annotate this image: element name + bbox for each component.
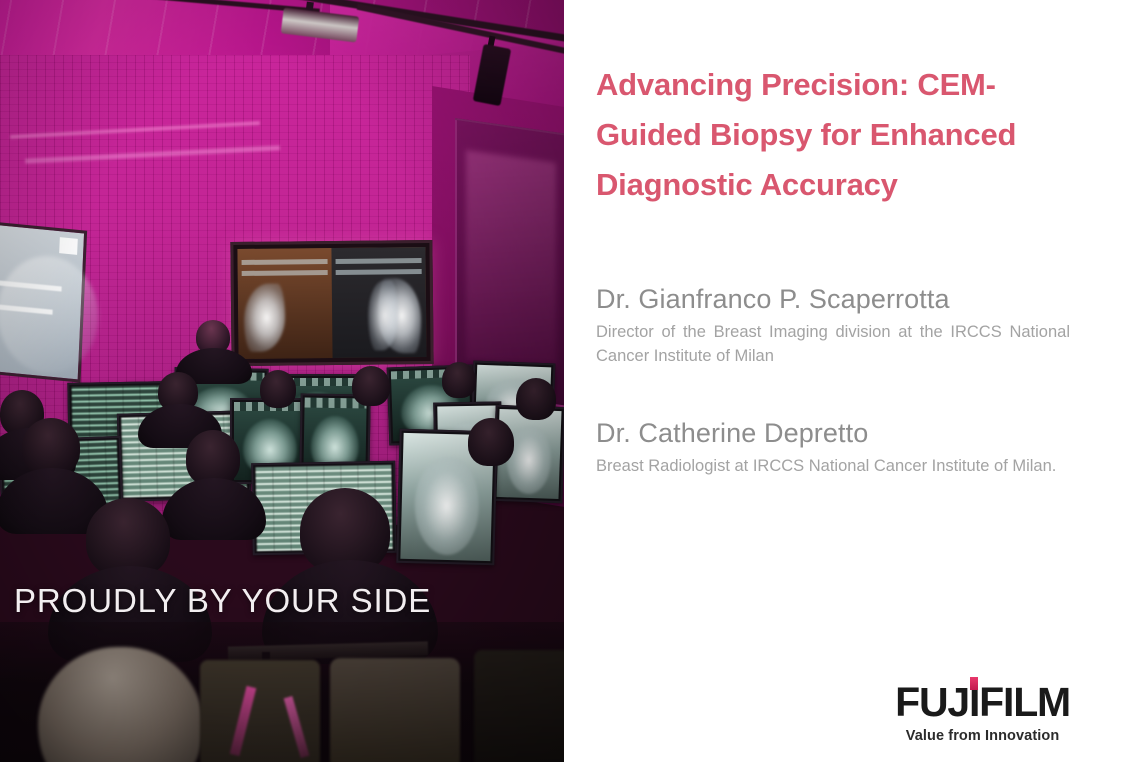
presenter-role: Breast Radiologist at IRCCS National Can… (596, 454, 1070, 478)
mammogram-image (413, 456, 480, 556)
logo-part-film: FILM (979, 679, 1070, 725)
mammogram-panel-right (331, 247, 426, 358)
presenter-block: Dr. Catherine Depretto Breast Radiologis… (596, 418, 1070, 478)
main-presentation-screen (230, 240, 433, 366)
presenter-role: Director of the Breast Imaging division … (596, 320, 1070, 368)
presenter-block: Dr. Gianfranco P. Scaperrotta Director o… (596, 284, 1070, 368)
logo-part-fuj: FUJ (895, 679, 969, 725)
page-title: Advancing Precision: CEM-Guided Biopsy f… (596, 60, 1066, 210)
fujifilm-wordmark: FUJIFILM (895, 682, 1070, 723)
logo-letter-i: I (969, 679, 979, 725)
attendee-silhouette (516, 378, 556, 420)
mammogram-image (243, 284, 285, 353)
chair (474, 650, 564, 762)
attendee-silhouette (442, 362, 476, 398)
screen-toolbar (241, 259, 328, 265)
presentation-slide: PROUDLY BY YOUR SIDE Advancing Precision… (0, 0, 1136, 762)
attendee-silhouette (468, 418, 514, 466)
auxiliary-presentation-screen (0, 221, 87, 382)
side-wall-artwork (466, 150, 556, 373)
slide-logo-mark (59, 237, 78, 255)
chair (330, 658, 460, 762)
brand-tagline: PROUDLY BY YOUR SIDE (14, 582, 431, 620)
attendee-silhouette (260, 370, 296, 408)
screen-content (237, 247, 426, 359)
slide-content-panel: Advancing Precision: CEM-Guided Biopsy f… (564, 0, 1136, 762)
screen-toolbar (335, 269, 422, 275)
mammogram-panel-left (237, 248, 332, 359)
fujifilm-logo: FUJIFILM Value from Innovation (895, 682, 1070, 744)
fujifilm-tagline: Value from Innovation (895, 728, 1070, 744)
screen-toolbar (335, 258, 422, 264)
attendee-silhouette (352, 366, 390, 406)
screen-toolbar (241, 270, 328, 276)
presenter-name: Dr. Catherine Depretto (596, 418, 1070, 449)
presenter-name: Dr. Gianfranco P. Scaperrotta (596, 284, 1070, 315)
